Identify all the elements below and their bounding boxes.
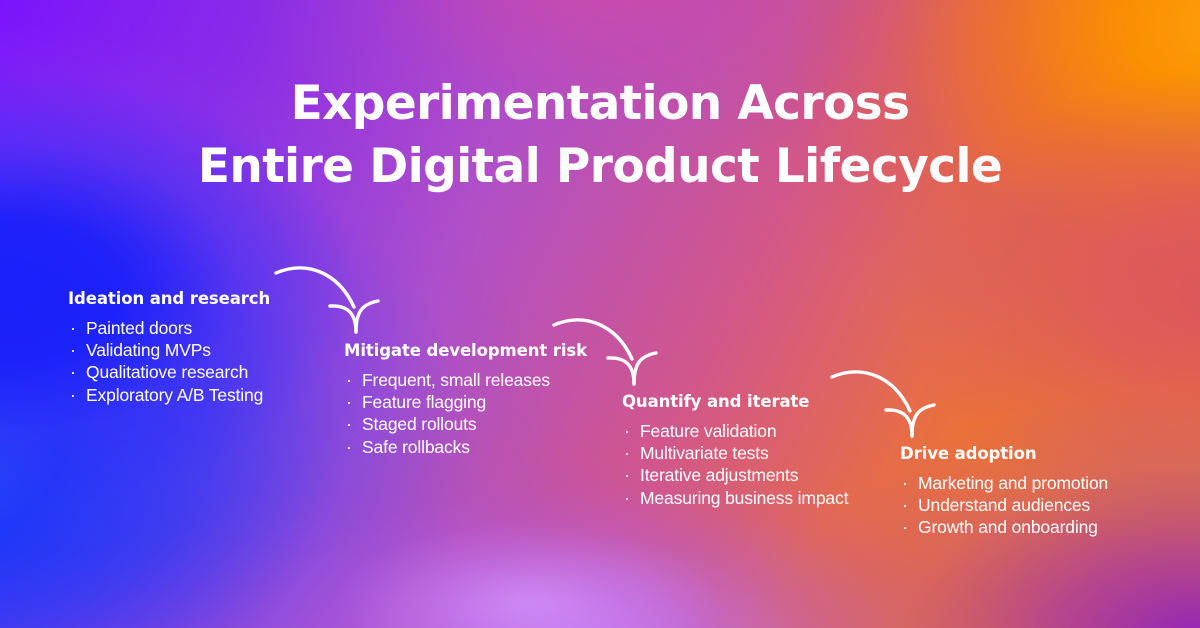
list-item: ·Feature validation xyxy=(622,420,848,442)
list-item-label: Safe rollbacks xyxy=(362,437,470,457)
list-item-label: Growth and onboarding xyxy=(918,517,1098,537)
bullet-icon: · xyxy=(624,442,630,464)
list-item-label: Marketing and promotion xyxy=(918,473,1108,493)
infographic-canvas: Experimentation Across Entire Digital Pr… xyxy=(0,0,1200,628)
stage-heading: Ideation and research xyxy=(68,288,270,309)
list-item: ·Staged rollouts xyxy=(344,413,587,435)
list-item: ·Qualitatiove research xyxy=(68,361,270,383)
list-item: ·Safe rollbacks xyxy=(344,436,587,458)
list-item: ·Validating MVPs xyxy=(68,339,270,361)
list-item: ·Painted doors xyxy=(68,317,270,339)
stage-heading: Mitigate development risk xyxy=(344,340,587,361)
stage-quantify-and-iterate: Quantify and iterate ·Feature validation… xyxy=(622,391,848,509)
list-item: ·Frequent, small releases xyxy=(344,369,587,391)
bullet-icon: · xyxy=(70,361,76,383)
title-line-2: Entire Digital Product Lifecycle xyxy=(0,135,1200,198)
stage-mitigate-development-risk: Mitigate development risk ·Frequent, sma… xyxy=(344,340,587,458)
list-item: ·Marketing and promotion xyxy=(900,472,1108,494)
page-title: Experimentation Across Entire Digital Pr… xyxy=(0,72,1200,198)
bullet-icon: · xyxy=(902,472,908,494)
list-item-label: Feature flagging xyxy=(362,392,486,412)
list-item: ·Multivariate tests xyxy=(622,442,848,464)
bullet-icon: · xyxy=(624,464,630,486)
stage-bullet-list: ·Feature validation ·Multivariate tests … xyxy=(622,420,848,509)
list-item-label: Iterative adjustments xyxy=(640,465,798,485)
bullet-icon: · xyxy=(902,494,908,516)
bullet-icon: · xyxy=(346,436,352,458)
arrow-stage-1-to-2 xyxy=(272,258,382,338)
bullet-icon: · xyxy=(346,391,352,413)
list-item-label: Feature validation xyxy=(640,421,776,441)
bullet-icon: · xyxy=(624,420,630,442)
title-line-1: Experimentation Across xyxy=(0,72,1200,135)
stage-ideation-and-research: Ideation and research ·Painted doors ·Va… xyxy=(68,288,270,406)
stage-drive-adoption: Drive adoption ·Marketing and promotion … xyxy=(900,443,1108,539)
list-item-label: Exploratory A/B Testing xyxy=(86,385,263,405)
list-item: ·Understand audiences xyxy=(900,494,1108,516)
list-item: ·Feature flagging xyxy=(344,391,587,413)
bullet-icon: · xyxy=(346,413,352,435)
bullet-icon: · xyxy=(902,516,908,538)
stage-heading: Quantify and iterate xyxy=(622,391,848,412)
list-item-label: Understand audiences xyxy=(918,495,1090,515)
list-item-label: Validating MVPs xyxy=(86,340,211,360)
list-item: ·Growth and onboarding xyxy=(900,516,1108,538)
stage-bullet-list: ·Marketing and promotion ·Understand aud… xyxy=(900,472,1108,539)
bullet-icon: · xyxy=(624,487,630,509)
list-item-label: Qualitatiove research xyxy=(86,362,248,382)
bullet-icon: · xyxy=(346,369,352,391)
list-item: ·Measuring business impact xyxy=(622,487,848,509)
stage-bullet-list: ·Painted doors ·Validating MVPs ·Qualita… xyxy=(68,317,270,406)
list-item-label: Painted doors xyxy=(86,318,192,338)
list-item-label: Staged rollouts xyxy=(362,414,477,434)
list-item-label: Frequent, small releases xyxy=(362,370,550,390)
stage-heading: Drive adoption xyxy=(900,443,1108,464)
stage-bullet-list: ·Frequent, small releases ·Feature flagg… xyxy=(344,369,587,458)
list-item: ·Exploratory A/B Testing xyxy=(68,384,270,406)
bullet-icon: · xyxy=(70,339,76,361)
list-item-label: Multivariate tests xyxy=(640,443,769,463)
bullet-icon: · xyxy=(70,384,76,406)
list-item: ·Iterative adjustments xyxy=(622,464,848,486)
list-item-label: Measuring business impact xyxy=(640,488,848,508)
bullet-icon: · xyxy=(70,317,76,339)
